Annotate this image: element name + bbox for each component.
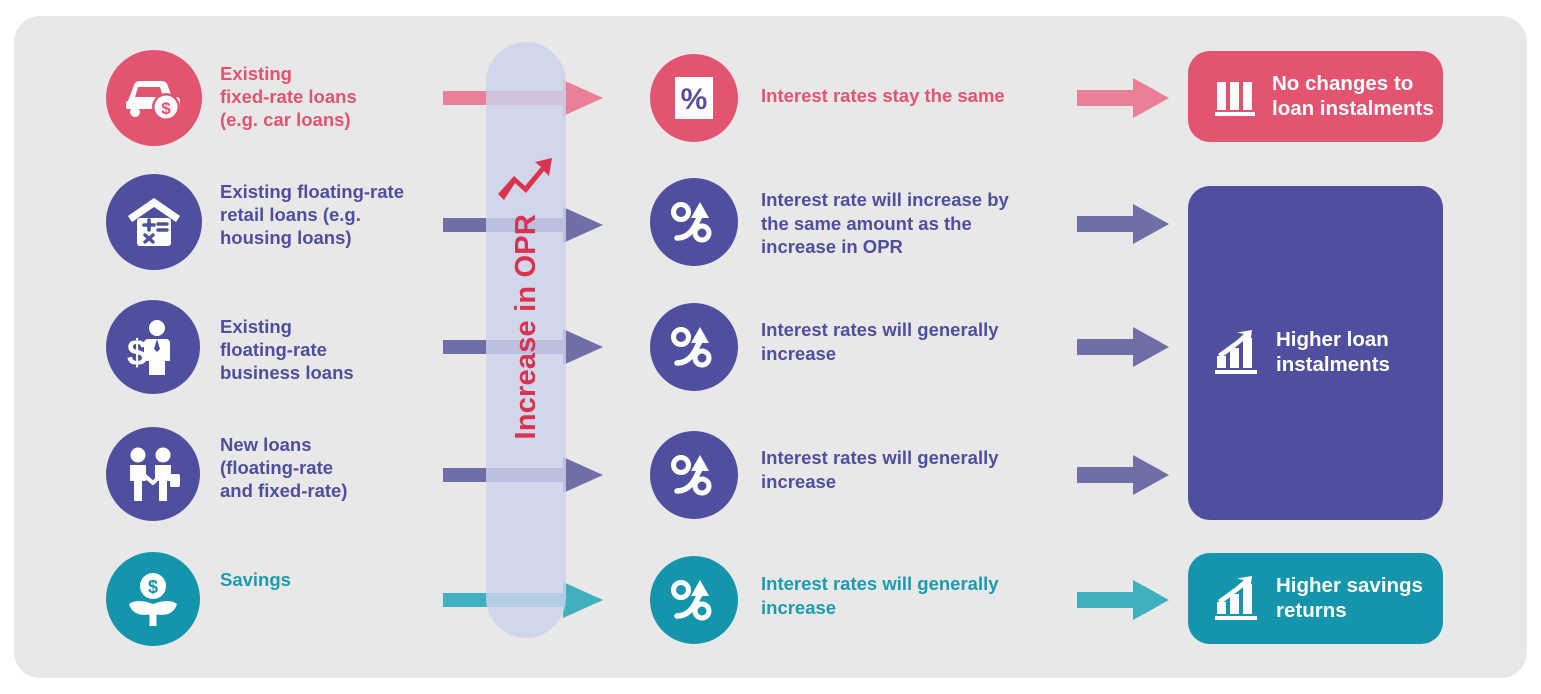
- percent-up-arrow-icon: [668, 196, 720, 248]
- source-label-new-loans: New loans (floating-rate and fixed-rate): [220, 433, 450, 502]
- outcome-no-changes[interactable]: No changes to loan instalments: [1188, 51, 1443, 142]
- source-label-line: Existing floating-rate: [220, 180, 456, 203]
- source-label-savings: Savings: [220, 568, 450, 591]
- infographic-stage: Increase in OPR $ Existing fixed-rate lo…: [0, 0, 1541, 694]
- arrow-row1-right: [1077, 76, 1169, 120]
- two-people-handshake-icon: [122, 445, 184, 503]
- effect-label-line: Interest rates will generally: [761, 318, 1071, 342]
- source-label-line: and fixed-rate): [220, 479, 450, 502]
- effect-label-row5: Interest rates will generally increase: [761, 572, 1071, 619]
- source-label-existing-fixed-rate-loans: Existing fixed-rate loans (e.g. car loan…: [220, 62, 450, 131]
- effect-label-line: increase in OPR: [761, 235, 1071, 259]
- effect-label-line: increase: [761, 470, 1071, 494]
- money-plant-icon: $: [123, 570, 183, 628]
- outcome-label-line: No changes to: [1272, 72, 1434, 97]
- effect-label-line: Interest rates will generally: [761, 446, 1071, 470]
- effect-icon-row1[interactable]: %: [650, 54, 738, 142]
- effect-label-row1: Interest rates stay the same: [761, 84, 1061, 108]
- source-label-line: floating-rate: [220, 338, 450, 361]
- percent-up-arrow-icon: [668, 321, 720, 373]
- source-label-line: Savings: [220, 568, 450, 591]
- outcome-label-line: Higher savings: [1276, 574, 1423, 599]
- car-loan-icon: $: [122, 71, 186, 125]
- source-icon-existing-floating-rate-business-loans[interactable]: $: [106, 300, 200, 394]
- arrow-row5-right: [1077, 578, 1169, 622]
- outcome-label-line: returns: [1276, 599, 1423, 624]
- arrow-row4-right: [1077, 453, 1169, 497]
- effect-icon-row4[interactable]: [650, 431, 738, 519]
- rising-bar-chart-icon: [1212, 574, 1262, 624]
- outcome-label-higher-loan-instalments: Higher loan instalments: [1276, 328, 1390, 377]
- source-label-line: retail loans (e.g.: [220, 203, 456, 226]
- effect-label-row2: Interest rate will increase by the same …: [761, 188, 1071, 259]
- percent-up-arrow-icon: [668, 449, 720, 501]
- percent-square-icon: %: [669, 73, 719, 123]
- outcome-higher-savings-returns[interactable]: Higher savings returns: [1188, 553, 1443, 644]
- outcome-label-higher-savings-returns: Higher savings returns: [1276, 574, 1423, 623]
- outcome-label-line: Higher loan: [1276, 328, 1390, 353]
- svg-text:$: $: [161, 99, 171, 118]
- businessperson-dollar-icon: $: [124, 317, 182, 377]
- source-label-line: (e.g. car loans): [220, 108, 450, 131]
- source-label-existing-floating-rate-retail-loans: Existing floating-rate retail loans (e.g…: [220, 180, 456, 249]
- svg-text:%: %: [681, 83, 708, 116]
- effect-label-line: increase: [761, 342, 1071, 366]
- effect-label-line: Interest rates will generally: [761, 572, 1071, 596]
- effect-icon-row5[interactable]: [650, 556, 738, 644]
- outcome-label-line: loan instalments: [1272, 97, 1434, 122]
- outcome-label-line: instalments: [1276, 353, 1390, 378]
- outcome-label-no-changes: No changes to loan instalments: [1272, 72, 1434, 121]
- source-label-line: (floating-rate: [220, 456, 450, 479]
- flat-bar-chart-icon: [1212, 74, 1258, 120]
- source-label-line: Existing: [220, 315, 450, 338]
- source-label-existing-floating-rate-business-loans: Existing floating-rate business loans: [220, 315, 450, 384]
- effect-label-line: the same amount as the: [761, 212, 1071, 236]
- arrow-row2-right: [1077, 202, 1169, 246]
- effect-label-line: increase: [761, 596, 1071, 620]
- effect-label-line: Interest rate will increase by: [761, 188, 1071, 212]
- effect-icon-row2[interactable]: [650, 178, 738, 266]
- source-icon-savings[interactable]: $: [106, 552, 200, 646]
- percent-up-arrow-icon: [668, 574, 720, 626]
- svg-text:$: $: [148, 577, 158, 597]
- source-label-line: housing loans): [220, 226, 456, 249]
- source-icon-new-loans[interactable]: [106, 427, 200, 521]
- rising-bar-chart-icon: [1212, 328, 1262, 378]
- opr-column: [486, 42, 566, 638]
- effect-label-row3: Interest rates will generally increase: [761, 318, 1071, 365]
- source-icon-existing-fixed-rate-loans[interactable]: $: [106, 50, 202, 146]
- source-label-line: fixed-rate loans: [220, 85, 450, 108]
- effect-icon-row3[interactable]: [650, 303, 738, 391]
- source-icon-existing-floating-rate-retail-loans[interactable]: [106, 174, 202, 270]
- source-label-line: New loans: [220, 433, 450, 456]
- effect-label-line: Interest rates stay the same: [761, 84, 1061, 108]
- arrow-row3-right: [1077, 325, 1169, 369]
- svg-text:$: $: [127, 332, 147, 373]
- outcome-higher-loan-instalments[interactable]: Higher loan instalments: [1188, 186, 1443, 520]
- source-label-line: business loans: [220, 361, 450, 384]
- source-label-line: Existing: [220, 62, 450, 85]
- effect-label-row4: Interest rates will generally increase: [761, 446, 1071, 493]
- house-calculator-icon: [124, 192, 184, 252]
